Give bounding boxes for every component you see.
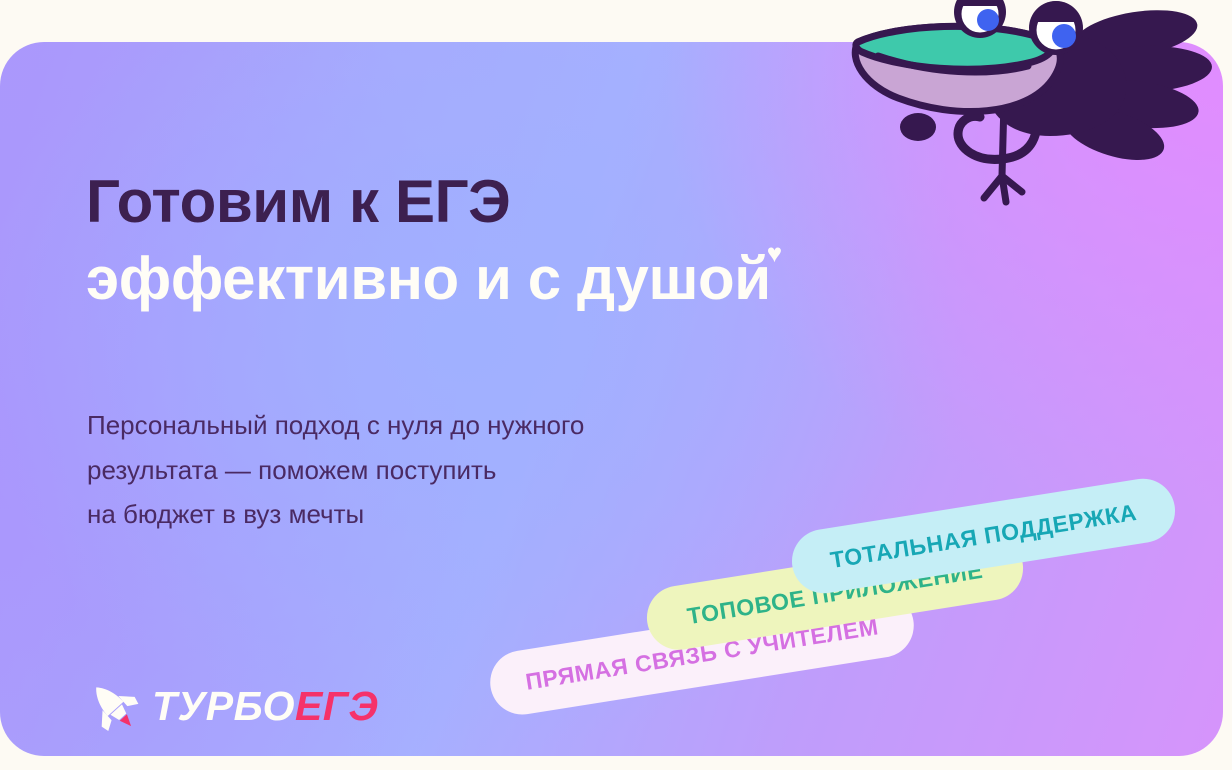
- mascot-hand-icon: [900, 113, 936, 141]
- brand-logo[interactable]: ТУРБОЕГЭ: [84, 679, 379, 733]
- heart-icon: ♥: [767, 238, 782, 268]
- mascot-beak-upper: [856, 26, 1053, 69]
- headline-line-2: эффективно и с душой: [86, 245, 771, 312]
- logo-word-ege: ЕГЭ: [295, 683, 378, 729]
- logo-word-turbo: ТУРБО: [152, 683, 295, 729]
- rocket-icon: [84, 679, 142, 733]
- logo-wordmark: ТУРБОЕГЭ: [152, 686, 379, 727]
- crow-mascot: [836, 0, 1232, 230]
- headline-line-2-wrap: эффективно и с душой♥: [86, 241, 986, 318]
- subtitle-block: Персональный подход с нуля до нужного ре…: [87, 403, 867, 537]
- subtitle-line-1: Персональный подход с нуля до нужного: [87, 403, 867, 448]
- mascot-eye-right-icon: [1029, 1, 1083, 55]
- subtitle-line-3: на бюджет в вуз мечты: [87, 492, 867, 537]
- subtitle-line-2: результата — поможем поступить: [87, 448, 867, 493]
